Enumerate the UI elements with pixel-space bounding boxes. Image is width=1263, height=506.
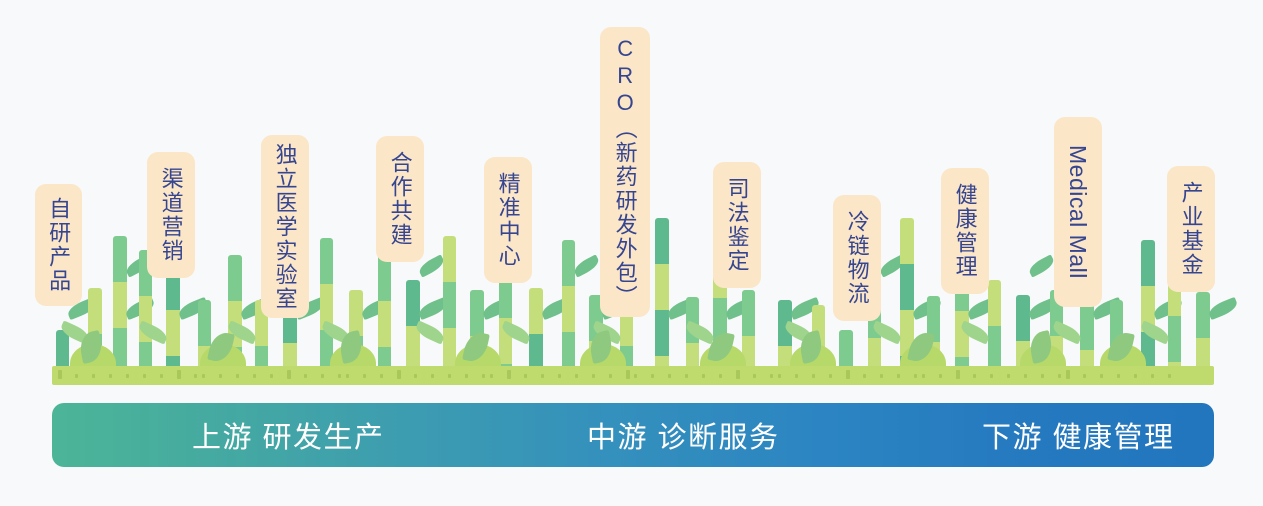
ground-dot xyxy=(753,374,756,378)
bamboo-segment xyxy=(113,236,127,282)
ground-dot xyxy=(609,374,612,378)
label-pill-precision-center[interactable]: 精准中心 xyxy=(484,157,532,283)
ground-dot xyxy=(92,374,95,378)
ground-dot xyxy=(592,374,595,378)
label-pill-channel-marketing[interactable]: 渠道营销 xyxy=(147,152,195,278)
label-pill-text: 精准中心 xyxy=(496,172,519,268)
bamboo-stalk xyxy=(1141,240,1155,372)
ground-dot xyxy=(1151,374,1154,378)
bamboo-segment xyxy=(198,300,211,346)
label-pill-text: 冷链物流 xyxy=(845,210,868,306)
label-pill-forensic-identification[interactable]: 司法鉴定 xyxy=(713,162,761,288)
bamboo-segment xyxy=(562,240,575,286)
bamboo-stalk xyxy=(1196,292,1210,372)
ground-dot xyxy=(626,370,630,379)
ground-dot xyxy=(253,374,256,378)
ground-dot xyxy=(1168,374,1171,378)
label-pill-text: 自研产品 xyxy=(47,197,70,293)
bamboo-stalk xyxy=(320,238,333,372)
label-pill-text: 产业基金 xyxy=(1179,181,1202,277)
bamboo-segment xyxy=(529,288,543,334)
ground-dot xyxy=(863,374,866,378)
label-pill-cooperative-build[interactable]: 合作共建 xyxy=(376,136,424,262)
bamboo-segment xyxy=(443,236,456,282)
bamboo-segment xyxy=(562,286,575,332)
ground-dot xyxy=(846,370,850,379)
ground-dot xyxy=(414,374,417,378)
bamboo-segment xyxy=(1141,240,1155,286)
ground-dot xyxy=(465,374,468,378)
bamboo-segment xyxy=(1196,292,1210,338)
ground-dot xyxy=(795,374,798,378)
label-pill-text: 合作共建 xyxy=(388,151,411,247)
ground-dot xyxy=(990,374,993,378)
bamboo-segment xyxy=(228,255,242,301)
label-pill-text: 渠道营销 xyxy=(159,167,182,263)
ground-dot xyxy=(736,370,740,379)
ground-dot xyxy=(304,374,307,378)
ground-dot xyxy=(524,374,527,378)
value-chain-bar[interactable]: 上游 研发生产中游 诊断服务下游 健康管理 xyxy=(52,403,1214,467)
bamboo-segment xyxy=(443,282,456,328)
bamboo-stalk xyxy=(443,236,456,372)
bamboo-segment xyxy=(900,218,914,264)
bamboo-segment xyxy=(900,264,914,310)
ground-dot xyxy=(321,374,324,378)
ground-dot xyxy=(829,374,832,378)
ground-dot xyxy=(58,370,62,379)
bamboo-segment xyxy=(655,310,669,356)
ground-dot xyxy=(914,374,917,378)
ground-dot xyxy=(346,374,349,378)
ground-dot xyxy=(507,370,511,379)
bamboo-segment xyxy=(349,290,363,336)
bamboo-segment xyxy=(470,290,484,336)
ground-dot xyxy=(482,374,485,378)
ground-dot xyxy=(490,374,493,378)
bamboo-leaf xyxy=(1027,254,1056,277)
bamboo-stalk xyxy=(529,288,543,372)
bamboo-segment xyxy=(320,238,333,284)
ground-dot xyxy=(973,374,976,378)
label-pill-text: Medical Mall xyxy=(1066,145,1090,279)
ground-dot xyxy=(1066,370,1070,379)
label-pill-health-management[interactable]: 健康管理 xyxy=(941,168,989,294)
ground-dot xyxy=(363,374,366,378)
ground-dot xyxy=(109,374,112,378)
bamboo-segment xyxy=(1016,295,1030,341)
label-pill-self-developed-products[interactable]: 自研产品 xyxy=(35,184,82,306)
ground-dot xyxy=(380,374,383,378)
ground-dot xyxy=(202,374,205,378)
ground-dot xyxy=(160,374,163,378)
stage-label-midstream[interactable]: 中游 诊断服务 xyxy=(587,414,780,456)
ground-dot xyxy=(685,374,688,378)
stage-label-upstream[interactable]: 上游 研发生产 xyxy=(192,414,385,456)
bamboo-segment xyxy=(166,310,180,356)
label-pill-text: 独立医学实验室 xyxy=(273,143,296,311)
ground-dot xyxy=(702,374,705,378)
ground-dot xyxy=(1007,374,1010,378)
bamboo-segment xyxy=(88,288,102,334)
label-pill-independent-lab[interactable]: 独立医学实验室 xyxy=(261,135,309,318)
ground-dot xyxy=(651,374,654,378)
ground-dot xyxy=(143,374,146,378)
bamboo-segment xyxy=(1080,304,1094,350)
ground-strip xyxy=(52,366,1214,385)
ground-dot xyxy=(1083,374,1086,378)
ground-dot xyxy=(922,374,925,378)
bamboo-stalk xyxy=(562,240,575,372)
ground-dot xyxy=(956,370,960,379)
bamboo-segment xyxy=(113,282,127,328)
ground-dot xyxy=(575,374,578,378)
label-pill-industry-fund[interactable]: 产业基金 xyxy=(1167,166,1215,292)
bamboo-stalk xyxy=(378,255,391,372)
ground-dot xyxy=(778,374,781,378)
ground-dot xyxy=(1024,374,1027,378)
ground-dot xyxy=(75,374,78,378)
ground-dot xyxy=(287,370,291,379)
bamboo-segment xyxy=(655,264,669,310)
ground-dot xyxy=(219,374,222,378)
ground-dot xyxy=(1041,374,1044,378)
bamboo-segment xyxy=(742,290,755,336)
ground-dot xyxy=(1117,374,1120,378)
ground-dot xyxy=(338,374,341,378)
bamboo-stalk xyxy=(113,236,127,372)
bamboo-segment xyxy=(378,301,391,347)
bamboo-leaf xyxy=(572,254,601,277)
label-pill-medical-mall[interactable]: Medical Mall xyxy=(1054,117,1102,307)
bamboo-segment xyxy=(406,280,420,326)
label-pill-cold-chain-logistics[interactable]: 冷链物流 xyxy=(833,195,881,321)
bamboo-stalk xyxy=(655,218,669,372)
ground-dot xyxy=(1134,374,1137,378)
ground-dot xyxy=(719,374,722,378)
bamboo-segment xyxy=(1168,316,1181,362)
ground-dot xyxy=(541,374,544,378)
ground-dot xyxy=(668,374,671,378)
ground-dot xyxy=(939,374,942,378)
label-pill-text: CRO（新药研发外包） xyxy=(613,36,636,309)
ground-dot xyxy=(634,374,637,378)
label-pill-cro-outsourcing[interactable]: CRO（新药研发外包） xyxy=(600,27,650,317)
ground-dot xyxy=(448,374,451,378)
ground-dot xyxy=(880,374,883,378)
ground-dot xyxy=(177,370,181,379)
ground-dot xyxy=(126,374,129,378)
ground-dot xyxy=(194,374,197,378)
ground-dot xyxy=(431,374,434,378)
ground-dot xyxy=(558,374,561,378)
label-pill-text: 司法鉴定 xyxy=(725,177,748,273)
ground-dot xyxy=(1058,374,1061,378)
infographic-canvas: 自研产品渠道营销独立医学实验室合作共建精准中心CRO（新药研发外包）司法鉴定冷链… xyxy=(0,0,1263,506)
bamboo-stalk xyxy=(988,280,1001,372)
bamboo-segment xyxy=(655,218,669,264)
ground-dot xyxy=(897,374,900,378)
ground-dot xyxy=(236,374,239,378)
bamboo-leaf xyxy=(1207,297,1240,320)
bamboo-segment xyxy=(988,280,1001,326)
ground-dot xyxy=(770,374,773,378)
ground-dot xyxy=(812,374,815,378)
ground-dot xyxy=(1100,374,1103,378)
ground-dot xyxy=(397,370,401,379)
stage-label-downstream[interactable]: 下游 健康管理 xyxy=(982,414,1175,456)
ground-dot xyxy=(270,374,273,378)
label-pill-text: 健康管理 xyxy=(953,183,976,279)
